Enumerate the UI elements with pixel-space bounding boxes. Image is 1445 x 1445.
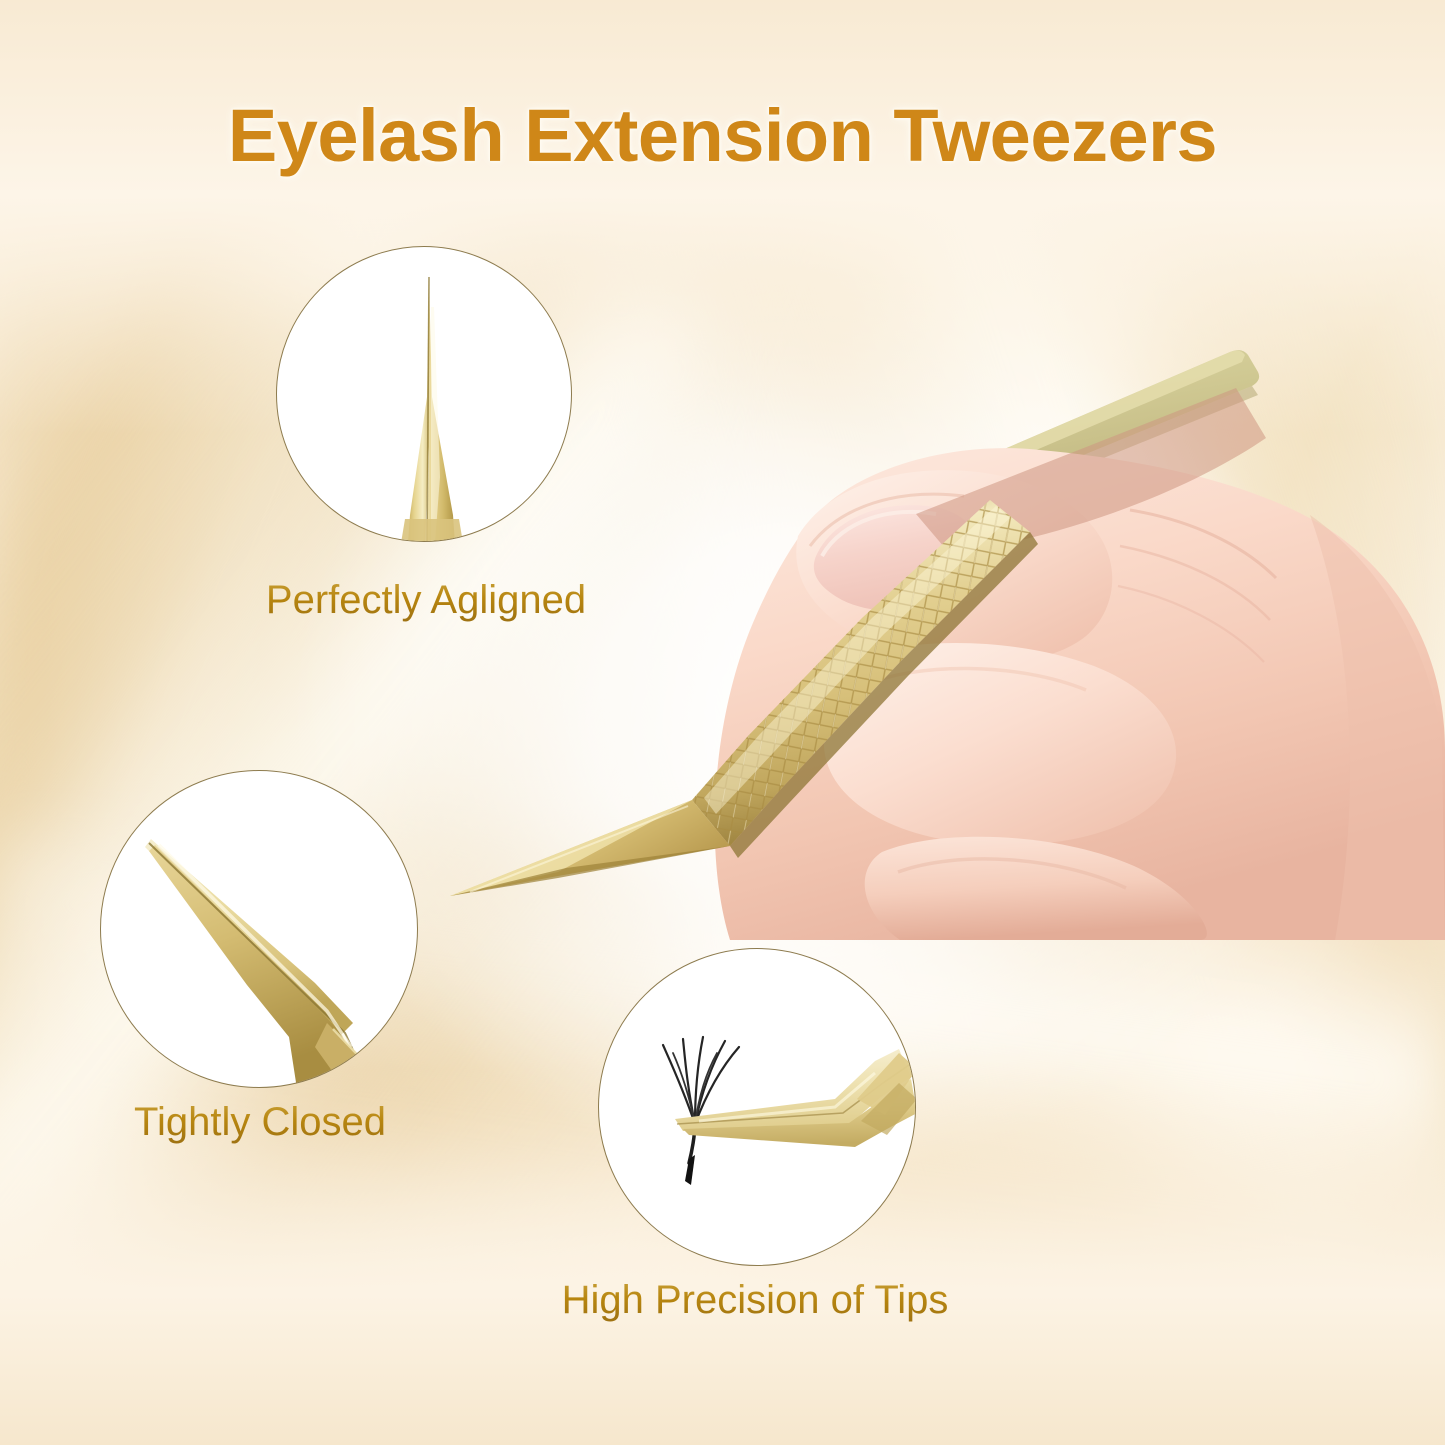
callout-circle-high-precision (598, 948, 916, 1266)
page-title: Eyelash Extension Tweezers (0, 93, 1445, 178)
callout-circle-perfectly-aligned (276, 246, 572, 542)
callout-label-tightly-closed: Tightly Closed (70, 1100, 450, 1145)
lash-fan (663, 1037, 739, 1124)
tweezer-tip-diagonal-icon (101, 771, 418, 1088)
product-marketing-image: Eyelash Extension Tweezers (0, 0, 1445, 1445)
tweezer-gripping-lash-fan-icon (599, 949, 916, 1266)
tweezer-tip-vertical-icon (277, 247, 572, 542)
callout-label-perfectly-aligned: Perfectly Agligned (236, 578, 616, 623)
callout-label-high-precision: High Precision of Tips (520, 1278, 990, 1323)
callout-circle-tightly-closed (100, 770, 418, 1088)
tweezer-tip (450, 800, 730, 896)
